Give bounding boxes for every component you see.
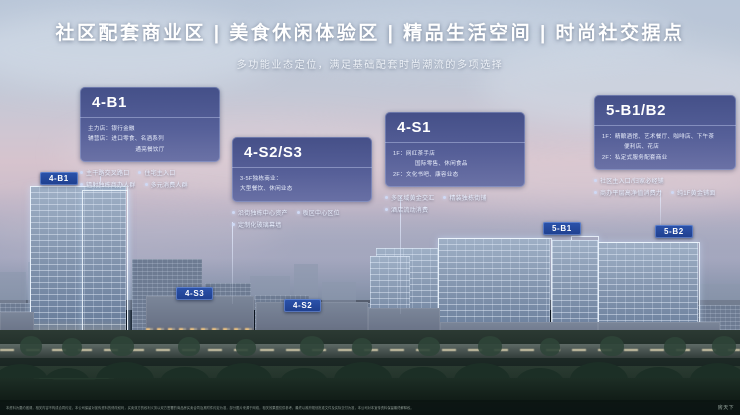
- bullet-label: 精装独栋街铺: [449, 193, 486, 202]
- info-card-line: 1F：精酿酒馆、艺术餐厅、咖啡店、下午茶: [602, 132, 728, 142]
- info-card-line: 1F：网红茶手店: [393, 149, 517, 159]
- building-tag-label: 4-S3: [185, 289, 204, 298]
- bullet-label: 沿街独栋中心资产: [238, 208, 288, 217]
- bullet-dot-icon: [80, 183, 83, 186]
- building-tag-4s2[interactable]: 4-S2: [284, 299, 321, 312]
- bullet-item: 定制化玻璃幕墙: [232, 220, 281, 229]
- bullet-row: 多区域黄金交汇 精装独栋街铺: [385, 193, 525, 202]
- info-card-title: 4-B1: [80, 87, 220, 118]
- bullet-label: 社区主入口/归家必经铺: [600, 176, 664, 185]
- bullet-item: 社区主入口/归家必经铺: [594, 176, 664, 185]
- bullet-row: 社区主入口/归家必经铺: [594, 176, 736, 185]
- info-card-title: 5-B1/B2: [594, 95, 736, 126]
- bullet-row: 辐射独栋商办人群 多元消费人群: [80, 180, 220, 189]
- bullet-label: 主干路交叉路口: [86, 168, 129, 177]
- info-card-body: 主力店：银行金融 辅营店：进口零食、名酒系列 通亮餐饮厅: [80, 118, 220, 162]
- info-card-line: 2F：文化书吧、康容业态: [393, 170, 517, 180]
- bullet-row: 酒店流动消费: [385, 205, 525, 214]
- foreground-hedge: [0, 378, 740, 402]
- info-card-line: 大型餐饮、休闲业态: [240, 184, 364, 194]
- info-card-box: 4-S1 1F：网红茶手店 国际零售、休闲食品 2F：文化书吧、康容业态: [385, 112, 525, 187]
- bullet-row: 沿街独栋中心资产 板区中心区位: [232, 208, 372, 217]
- building-tag-5b2[interactable]: 5-B2: [655, 225, 693, 238]
- footer-bar: 本资料为要约邀请，相关内容不构成合同约定，本公司保留对宣传资料的修改权利，买卖双…: [0, 400, 740, 415]
- bullet-item: 酒店流动消费: [385, 205, 428, 214]
- bullet-label: 商办平层高净值消费力: [600, 188, 662, 197]
- info-card-body: 1F：网红茶手店 国际零售、休闲食品 2F：文化书吧、康容业态: [385, 143, 525, 187]
- info-card-4s2-s3[interactable]: 4-S2/S3 3-5F独栋商业： 大型餐饮、休闲业态 沿街独栋中心资产 板区中…: [232, 137, 372, 232]
- info-card-box: 4-S2/S3 3-5F独栋商业： 大型餐饮、休闲业态: [232, 137, 372, 202]
- bullet-dot-icon: [671, 191, 674, 194]
- info-card-box: 5-B1/B2 1F：精酿酒馆、艺术餐厅、咖啡店、下午茶 便利店、花店 2F：私…: [594, 95, 736, 170]
- bullet-item: 多元消费人群: [145, 180, 188, 189]
- bullet-label: 辐射独栋商办人群: [86, 180, 136, 189]
- bullet-label: 纯1F黄金铺面: [677, 188, 715, 197]
- bullet-item: 商办平层高净值消费力: [594, 188, 662, 197]
- bullet-label: 酒店流动消费: [391, 205, 428, 214]
- bullet-dot-icon: [138, 171, 141, 174]
- bullet-dot-icon: [385, 208, 388, 211]
- bullet-item: 精装独栋街铺: [443, 193, 486, 202]
- info-card-body: 1F：精酿酒馆、艺术餐厅、咖啡店、下午茶 便利店、花店 2F：私定式服务配套商业: [594, 126, 736, 170]
- leader-line-4s3: [232, 222, 233, 304]
- bullet-item: 主干路交叉路口: [80, 168, 129, 177]
- info-card-4s1[interactable]: 4-S1 1F：网红茶手店 国际零售、休闲食品 2F：文化书吧、康容业态 多区域…: [385, 112, 525, 217]
- bullet-item: 多区域黄金交汇: [385, 193, 434, 202]
- bullet-item: 住宅主入口: [138, 168, 175, 177]
- legal-disclaimer: 本资料为要约邀请，相关内容不构成合同约定，本公司保留对宣传资料的修改权利，买卖双…: [6, 405, 414, 411]
- info-card-line: 通亮餐饮厅: [88, 145, 212, 155]
- bullet-label: 多区域黄金交汇: [391, 193, 434, 202]
- info-card-box: 4-B1 主力店：银行金融 辅营店：进口零食、名酒系列 通亮餐饮厅: [80, 87, 220, 162]
- bullet-dot-icon: [145, 183, 148, 186]
- building-tag-4b1[interactable]: 4-B1: [40, 172, 78, 185]
- bullet-row: 商办平层高净值消费力 纯1F黄金铺面: [594, 188, 736, 197]
- info-card-5b1-b2[interactable]: 5-B1/B2 1F：精酿酒馆、艺术餐厅、咖啡店、下午茶 便利店、花店 2F：私…: [594, 95, 736, 200]
- info-card-title: 4-S1: [385, 112, 525, 143]
- rendering-poster: 社区配套商业区 | 美食休闲体验区 | 精品生活空间 | 时尚社交据点 多功能业…: [0, 0, 740, 415]
- poster-header: 社区配套商业区 | 美食休闲体验区 | 精品生活空间 | 时尚社交据点 多功能业…: [0, 18, 740, 71]
- bullet-label: 板区中心区位: [303, 208, 340, 217]
- bullet-dot-icon: [232, 223, 235, 226]
- bullet-label: 定制化玻璃幕墙: [238, 220, 281, 229]
- bullet-item: 板区中心区位: [297, 208, 340, 217]
- info-card-body: 3-5F独栋商业： 大型餐饮、休闲业态: [232, 168, 372, 202]
- page-title: 社区配套商业区 | 美食休闲体验区 | 精品生活空间 | 时尚社交据点: [0, 18, 740, 45]
- info-card-4b1[interactable]: 4-B1 主力店：银行金融 辅营店：进口零食、名酒系列 通亮餐饮厅 主干路交叉路…: [80, 87, 220, 192]
- bullet-label: 多元消费人群: [151, 180, 188, 189]
- building-tag-5b1[interactable]: 5-B1: [543, 222, 581, 235]
- building-tag-label: 5-B1: [552, 224, 572, 233]
- tree-row-back: [0, 326, 740, 356]
- building-tag-label: 5-B2: [664, 227, 684, 236]
- info-card-bullets: 沿街独栋中心资产 板区中心区位 定制化玻璃幕墙: [232, 208, 372, 229]
- bullet-row: 主干路交叉路口 住宅主入口: [80, 168, 220, 177]
- bullet-dot-icon: [594, 191, 597, 194]
- building-tag-4s3[interactable]: 4-S3: [176, 287, 213, 300]
- info-card-line: 主力店：银行金融: [88, 124, 212, 134]
- watermark: 房天下: [712, 404, 734, 411]
- bullet-dot-icon: [594, 179, 597, 182]
- page-subtitle: 多功能业态定位，满足基础配套时尚潮流的多项选择: [0, 56, 740, 71]
- bullet-item: 辐射独栋商办人群: [80, 180, 136, 189]
- bullet-dot-icon: [385, 196, 388, 199]
- info-card-line: 辅营店：进口零食、名酒系列: [88, 134, 212, 144]
- info-card-bullets: 主干路交叉路口 住宅主入口 辐射独栋商办人群 多元消费人群: [80, 168, 220, 189]
- info-card-line: 3-5F独栋商业：: [240, 174, 364, 184]
- info-card-bullets: 社区主入口/归家必经铺 商办平层高净值消费力 纯1F黄金铺面: [594, 176, 736, 197]
- info-card-line: 2F：私定式服务配套商业: [602, 153, 728, 163]
- info-card-bullets: 多区域黄金交汇 精装独栋街铺 酒店流动消费: [385, 193, 525, 214]
- bullet-dot-icon: [443, 196, 446, 199]
- building-tag-label: 4-B1: [49, 174, 69, 183]
- bullet-label: 住宅主入口: [144, 168, 175, 177]
- bullet-item: 沿街独栋中心资产: [232, 208, 288, 217]
- info-card-line: 便利店、花店: [602, 142, 728, 152]
- building-tag-label: 4-S2: [293, 301, 312, 310]
- bullet-item: 纯1F黄金铺面: [671, 188, 715, 197]
- bullet-dot-icon: [232, 211, 235, 214]
- info-card-title: 4-S2/S3: [232, 137, 372, 168]
- info-card-line: 国际零售、休闲食品: [393, 159, 517, 169]
- bullet-row: 定制化玻璃幕墙: [232, 220, 372, 229]
- bullet-dot-icon: [297, 211, 300, 214]
- bullet-dot-icon: [80, 171, 83, 174]
